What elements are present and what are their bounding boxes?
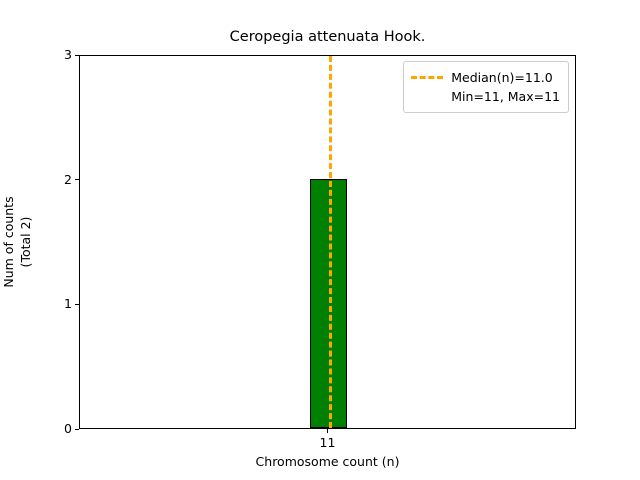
y-tick-label: 2 [64,172,72,188]
legend-item-label: Min=11, Max=11 [451,87,560,106]
chart-figure: Ceropegia attenuata Hook. 0123 11 Num of… [0,0,640,480]
median-line [329,56,332,428]
dashed-line-icon [411,76,443,79]
x-axis-label: Chromosome count (n) [79,454,576,470]
y-tick-label: 0 [64,421,72,437]
legend-item: Min=11, Max=11 [411,87,560,106]
chart-title: Ceropegia attenuata Hook. [79,28,576,46]
plot-area: Median(n)=11.0 Min=11, Max=11 [79,55,576,429]
legend-blank-icon [411,95,443,98]
x-tick-mark [327,429,328,433]
legend-item-label: Median(n)=11.0 [451,68,552,87]
y-tick-label: 3 [64,47,72,63]
chart-legend: Median(n)=11.0 Min=11, Max=11 [403,61,569,113]
x-tick-label: 11 [288,435,368,451]
y-tick-label: 1 [64,296,72,312]
legend-item: Median(n)=11.0 [411,68,560,87]
y-axis-label: Num of counts (Total 2) [0,55,36,429]
